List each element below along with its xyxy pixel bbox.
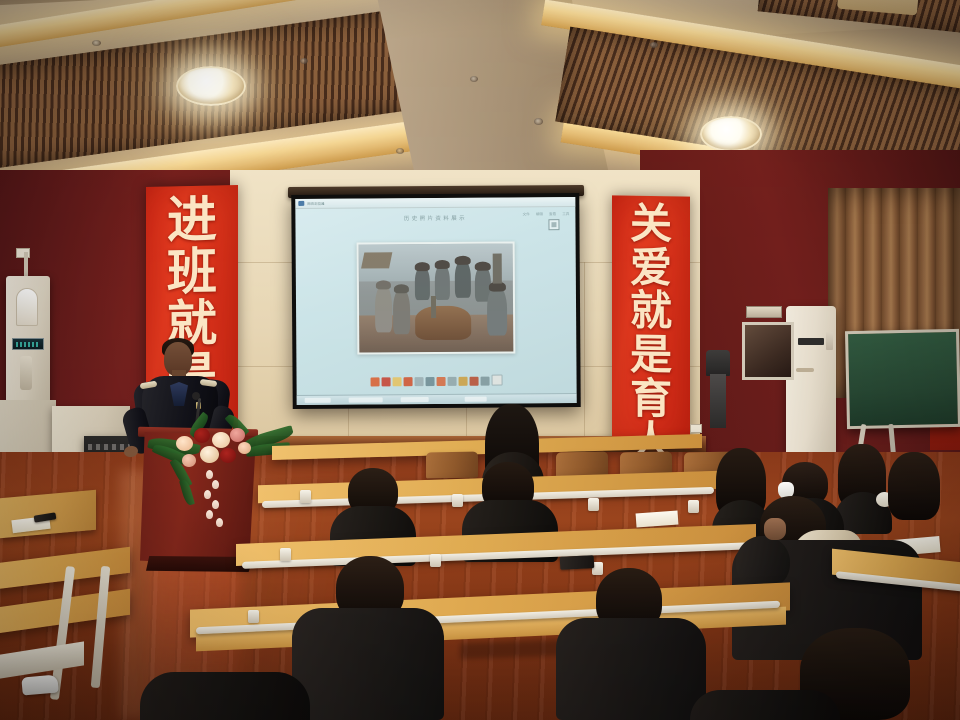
chat-icon[interactable] xyxy=(448,377,457,386)
rail-clip-c2 xyxy=(430,554,441,567)
browser-menu[interactable]: 文件 编辑 查看 工具 xyxy=(523,212,570,217)
store-icon[interactable] xyxy=(492,375,503,386)
browser-logo-icon xyxy=(298,201,304,206)
rail-clip-b4 xyxy=(688,500,699,513)
desk-papers-c xyxy=(636,511,679,528)
ac-handle xyxy=(796,368,814,372)
ceiling-sprinkler-4 xyxy=(534,118,543,125)
supply-pipe xyxy=(24,252,28,278)
smartphone-on-desk[interactable] xyxy=(560,555,595,570)
ceiling-sprinkler-2 xyxy=(300,58,308,64)
control-unit-spout xyxy=(20,356,32,390)
grid-icon[interactable] xyxy=(426,377,435,386)
right-red-banner: 关爱就是育人 xyxy=(612,195,690,448)
rail-clip-d1 xyxy=(248,610,259,623)
menu-item-view[interactable]: 查看 xyxy=(549,212,556,217)
microphone-head xyxy=(192,392,200,400)
app-dock[interactable] xyxy=(297,374,577,387)
rail-clip-b1 xyxy=(300,490,311,503)
ceiling-lamp-left xyxy=(176,66,246,106)
ceiling-lamp-right xyxy=(700,116,762,152)
projection-screen[interactable]: 网页浏览器 历史照片资料展示 文件 编辑 查看 工具 xyxy=(291,193,580,409)
ceiling-sprinkler-5 xyxy=(396,148,404,154)
menu-item-edit[interactable]: 编辑 xyxy=(536,212,543,217)
hoodie-student-hand xyxy=(764,518,786,540)
browser-titlebar xyxy=(295,197,575,209)
banner-right-text: 关爱就是育人 xyxy=(630,204,672,467)
green-chalkboard xyxy=(845,329,960,429)
menu-item-file[interactable]: 文件 xyxy=(523,212,530,217)
rail-clip-b3 xyxy=(588,498,599,511)
browser-icon[interactable] xyxy=(371,377,380,386)
ac-control-panel[interactable] xyxy=(826,332,833,350)
ceiling-sprinkler-1 xyxy=(92,40,101,46)
wall-outlet xyxy=(690,424,702,433)
wall-recess-window xyxy=(742,322,794,380)
rail-clip-b2 xyxy=(452,494,463,507)
lecture-hall-photo: 进班就是 关爱就是育人 网页浏览器 历史照片资料展示 文件 编辑 查看 工具 xyxy=(0,0,960,720)
app-square-icon[interactable] xyxy=(548,219,559,230)
folder-icon[interactable] xyxy=(393,377,402,386)
ac-vent xyxy=(798,338,824,345)
projected-photo xyxy=(357,241,516,354)
os-taskbar[interactable] xyxy=(297,393,577,405)
control-unit-panel xyxy=(16,288,38,326)
browser-address-text: 网页浏览器 xyxy=(307,201,324,206)
menu-item-tools[interactable]: 工具 xyxy=(562,212,569,217)
wall-mounted-box xyxy=(746,306,782,318)
music-icon[interactable] xyxy=(459,377,468,386)
control-unit-display xyxy=(12,338,44,350)
water-dispenser xyxy=(710,374,726,428)
note-icon[interactable] xyxy=(415,377,424,386)
seatback-a1 xyxy=(426,452,478,479)
ceiling-sprinkler-6 xyxy=(650,42,658,48)
media-icon[interactable] xyxy=(404,377,413,386)
water-dispenser-top xyxy=(706,350,730,376)
ceiling-sprinkler-3 xyxy=(470,76,478,82)
mail-icon[interactable] xyxy=(382,377,391,386)
settings-icon[interactable] xyxy=(481,377,490,386)
doc-icon[interactable] xyxy=(437,377,446,386)
rail-clip-c1 xyxy=(280,548,291,561)
student-sneaker xyxy=(21,674,58,695)
podium-flower-arrangement xyxy=(150,414,288,534)
calendar-icon[interactable] xyxy=(470,377,479,386)
